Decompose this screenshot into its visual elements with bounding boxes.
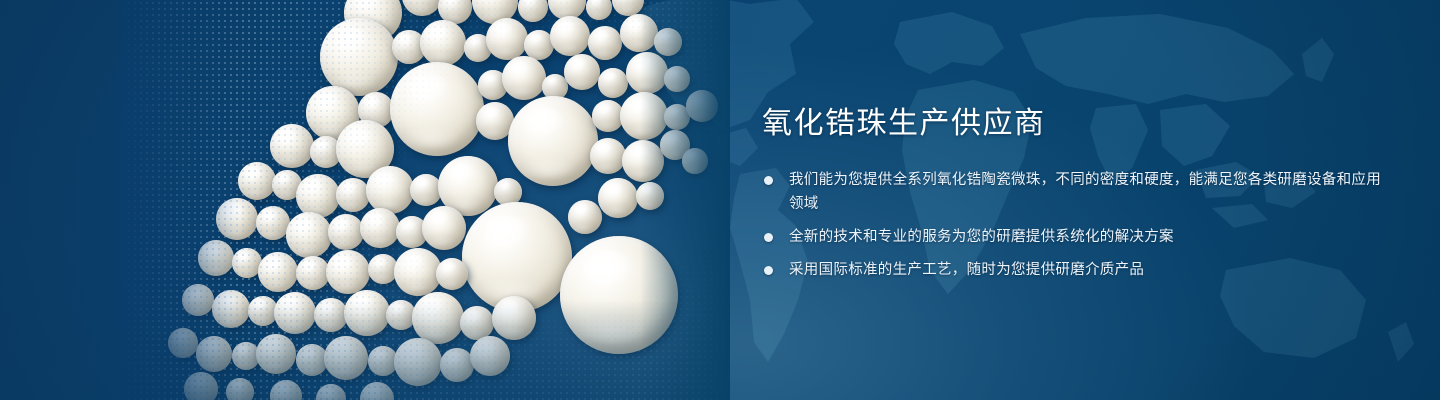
list-item-label: 采用国际标准的生产工艺，随时为您提供研磨介质产品 <box>789 262 1144 278</box>
hero-banner: 氧化锆珠生产供应商 我们能为您提供全系列氧化锆陶瓷微珠，不同的密度和硬度，能满足… <box>0 0 1440 400</box>
feature-list: 我们能为您提供全系列氧化锆陶瓷微珠，不同的密度和硬度，能满足您各类研磨设备和应用… <box>762 168 1382 282</box>
list-item: 采用国际标准的生产工艺，随时为您提供研磨介质产品 <box>762 258 1382 282</box>
list-item: 全新的技术和专业的服务为您的研磨提供系统化的解决方案 <box>762 225 1382 249</box>
bullet-dot-icon <box>764 233 773 242</box>
list-item-label: 我们能为您提供全系列氧化锆陶瓷微珠，不同的密度和硬度，能满足您各类研磨设备和应用… <box>789 172 1381 212</box>
bullet-dot-icon <box>764 176 773 185</box>
bullet-dot-icon <box>764 266 773 275</box>
list-item: 我们能为您提供全系列氧化锆陶瓷微珠，不同的密度和硬度，能满足您各类研磨设备和应用… <box>762 168 1382 216</box>
list-item-label: 全新的技术和专业的服务为您的研磨提供系统化的解决方案 <box>789 229 1174 245</box>
page-title: 氧化锆珠生产供应商 <box>762 104 1382 144</box>
banner-copy: 氧化锆珠生产供应商 我们能为您提供全系列氧化锆陶瓷微珠，不同的密度和硬度，能满足… <box>762 104 1382 282</box>
